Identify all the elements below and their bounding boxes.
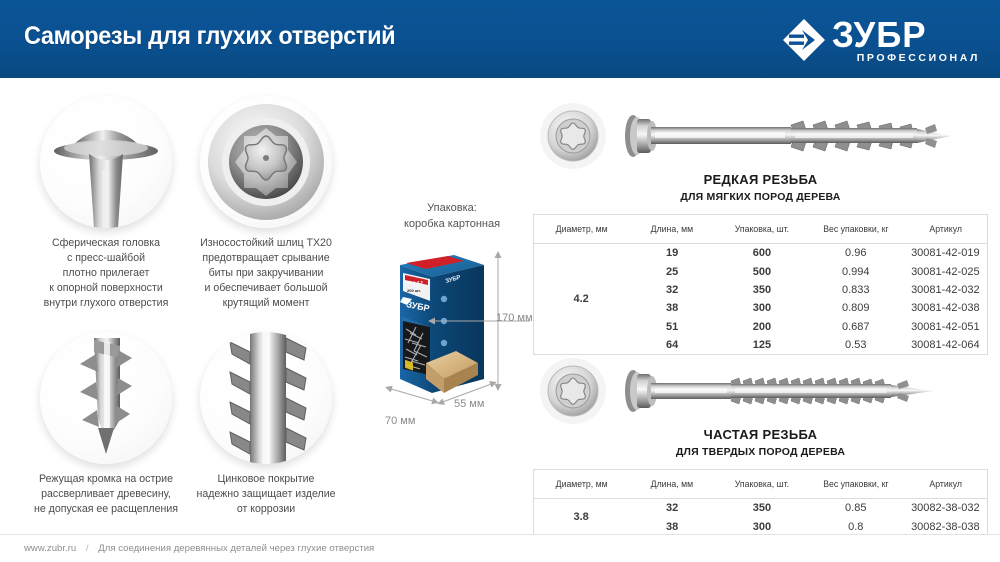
col-article: Артикул — [906, 470, 986, 499]
product-spec-sheet: Саморезы для глухих отверстий ЗУБР ПРОФЕ… — [0, 0, 1000, 562]
feature-block-4: Цинковое покрытиенадежно защищает издели… — [186, 332, 346, 517]
spec-table-head-coarse: Диаметр, мм Длина, мм Упаковка, шт. Вес … — [534, 215, 988, 244]
cell-weight: 0.85 — [808, 499, 904, 518]
cell-diameter: 3.8 — [534, 499, 629, 537]
feature-image-wrap-2 — [200, 96, 332, 228]
product-title-fine: ЧАСТАЯ РЕЗЬБА — [533, 427, 988, 442]
cell-article: 30081-42-032 — [904, 281, 988, 299]
product-section-coarse: РЕДКАЯ РЕЗЬБА ДЛЯ МЯГКИХ ПОРОД ДЕРЕВА Ди… — [533, 100, 988, 355]
col-diameter: Диаметр, мм — [536, 215, 626, 244]
cell-article: 30081-42-064 — [904, 336, 988, 355]
spec-table-body-fine: 3.8 32 350 0.85 30082-38-032 38 300 0.8 … — [534, 499, 988, 537]
packaging-caption-line2: коробка картонная — [372, 216, 532, 232]
screw-coarse-icon — [533, 100, 988, 172]
col-weight: Вес упаковки, кг — [810, 470, 901, 499]
torx-drive-photo-icon — [200, 96, 332, 228]
cell-weight: 0.53 — [808, 336, 904, 355]
feature-caption-3: Режущая кромка на остриерассверливает др… — [26, 472, 186, 517]
col-article: Артикул — [906, 215, 986, 244]
dimension-width-label: 70 мм — [385, 415, 415, 427]
screw-illustration-fine — [533, 355, 988, 427]
cell-article: 30082-38-032 — [904, 499, 988, 518]
col-package: Упаковка, шт. — [718, 215, 805, 244]
zinc-thread-photo-icon — [200, 332, 332, 464]
feature-image-wrap-4 — [200, 332, 332, 464]
brand-tagline: ПРОФЕССИОНАЛ — [857, 52, 980, 64]
cell-diameter: 4.2 — [534, 244, 629, 355]
col-diameter: Диаметр, мм — [536, 470, 626, 499]
feature-circle-2 — [200, 96, 332, 228]
brand-wordmark: ЗУБР — [832, 14, 927, 56]
packaging-dimension-arrows — [370, 240, 530, 435]
col-weight: Вес упаковки, кг — [810, 215, 901, 244]
screw-fine-icon — [533, 355, 988, 427]
zubr-diamond-icon — [782, 18, 826, 62]
feature-circle-3 — [40, 332, 172, 464]
col-length: Длина, мм — [630, 215, 713, 244]
table-header-row: Диаметр, мм Длина, мм Упаковка, шт. Вес … — [534, 470, 988, 499]
cell-weight: 0.833 — [808, 281, 904, 299]
product-section-fine: ЧАСТАЯ РЕЗЬБА ДЛЯ ТВЕРДЫХ ПОРОД ДЕРЕВА Д… — [533, 355, 988, 537]
cell-package: 600 — [716, 244, 808, 263]
feature-block-3: Режущая кромка на остриерассверливает др… — [26, 332, 186, 517]
spec-table-body-coarse: 4.2 19 600 0.96 30081-42-019 25 500 0.99… — [534, 244, 988, 355]
cell-length: 19 — [628, 244, 716, 263]
page-title: Саморезы для глухих отверстий — [24, 22, 395, 51]
cell-length: 25 — [628, 262, 716, 280]
cell-package: 350 — [716, 499, 808, 518]
cell-article: 30081-42-019 — [904, 244, 988, 263]
cell-length: 38 — [628, 299, 716, 317]
cell-length: 32 — [628, 499, 716, 518]
brand-logo: ЗУБР ПРОФЕССИОНАЛ — [782, 16, 982, 66]
cell-weight: 0.687 — [808, 318, 904, 336]
table-row: 4.2 19 600 0.96 30081-42-019 — [534, 244, 988, 263]
cell-length: 32 — [628, 281, 716, 299]
cell-article: 30081-42-025 — [904, 262, 988, 280]
cell-article: 30081-42-051 — [904, 318, 988, 336]
dimension-depth-label: 55 мм — [454, 398, 484, 410]
cell-article: 30081-42-038 — [904, 299, 988, 317]
cell-package: 500 — [716, 262, 808, 280]
cell-length: 64 — [628, 336, 716, 355]
cell-length: 51 — [628, 318, 716, 336]
feature-block-2: Износостойкий шлиц TX20предотвращает сры… — [186, 96, 346, 311]
packaging-caption-line1: Упаковка: — [372, 200, 532, 216]
feature-caption-4: Цинковое покрытиенадежно защищает издели… — [186, 472, 346, 517]
screw-head-photo-icon — [40, 96, 172, 228]
feature-image-wrap-1 — [40, 96, 172, 228]
cell-package: 300 — [716, 299, 808, 317]
footer-tagline: Для соединения деревянных деталей через … — [98, 543, 374, 554]
cell-package: 125 — [716, 336, 808, 355]
dimension-height-label: 170 мм — [496, 312, 533, 324]
cell-package: 200 — [716, 318, 808, 336]
feature-image-wrap-3 — [40, 332, 172, 464]
packaging-caption: Упаковка: коробка картонная — [372, 200, 532, 232]
spec-table-coarse: Диаметр, мм Длина, мм Упаковка, шт. Вес … — [533, 214, 988, 355]
cell-package: 350 — [716, 281, 808, 299]
table-header-row: Диаметр, мм Длина, мм Упаковка, шт. Вес … — [534, 215, 988, 244]
col-length: Длина, мм — [630, 470, 713, 499]
col-package: Упаковка, шт. — [718, 470, 805, 499]
feature-circle-4 — [200, 332, 332, 464]
feature-caption-1: Сферическая головкас пресс-шайбойплотно … — [26, 236, 186, 311]
screw-illustration-coarse — [533, 100, 988, 172]
footer-website-link[interactable]: www.zubr.ru — [24, 543, 76, 554]
cell-weight: 0.994 — [808, 262, 904, 280]
page-header: Саморезы для глухих отверстий ЗУБР ПРОФЕ… — [0, 0, 1000, 78]
cell-weight: 0.96 — [808, 244, 904, 263]
product-subtitle-fine: ДЛЯ ТВЕРДЫХ ПОРОД ДЕРЕВА — [533, 446, 988, 458]
table-row: 3.8 32 350 0.85 30082-38-032 — [534, 499, 988, 518]
product-subtitle-coarse: ДЛЯ МЯГКИХ ПОРОД ДЕРЕВА — [533, 191, 988, 203]
feature-block-1: Сферическая головкас пресс-шайбойплотно … — [26, 96, 186, 311]
screw-tip-photo-icon — [40, 332, 172, 464]
footer-content: www.zubr.ru / Для соединения деревянных … — [24, 543, 374, 554]
page-footer: www.zubr.ru / Для соединения деревянных … — [0, 534, 1000, 562]
spec-table-head-fine: Диаметр, мм Длина, мм Упаковка, шт. Вес … — [534, 470, 988, 499]
feature-caption-2: Износостойкий шлиц TX20предотвращает сры… — [186, 236, 346, 311]
feature-circle-1 — [40, 96, 172, 228]
cell-weight: 0.809 — [808, 299, 904, 317]
spec-table-fine: Диаметр, мм Длина, мм Упаковка, шт. Вес … — [533, 469, 988, 537]
footer-separator: / — [86, 543, 89, 554]
product-title-coarse: РЕДКАЯ РЕЗЬБА — [533, 172, 988, 187]
